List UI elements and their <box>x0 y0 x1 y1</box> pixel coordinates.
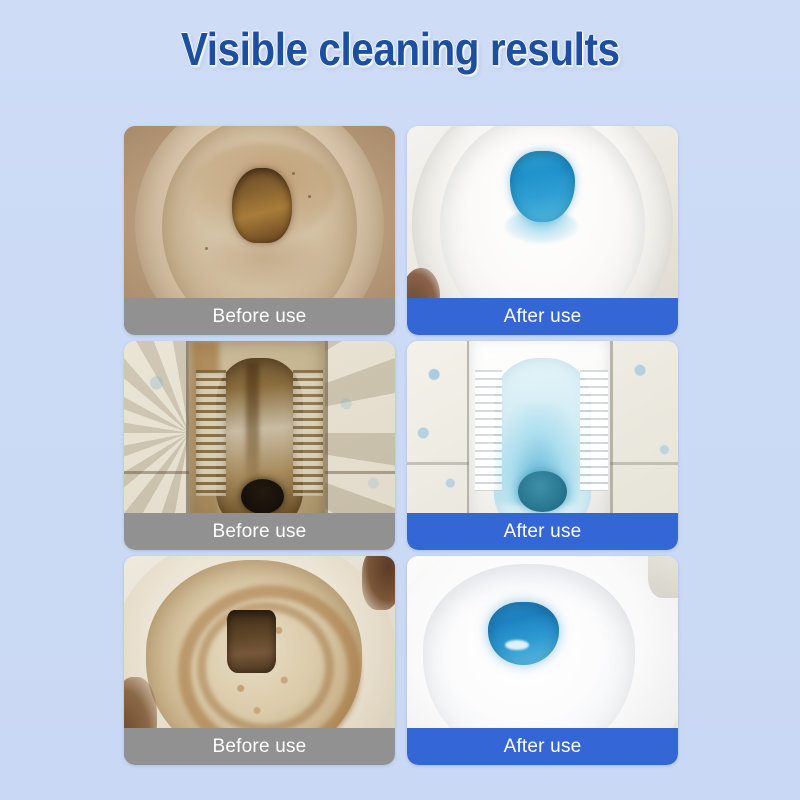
promo-poster: Visible cleaning results Before use <box>0 0 800 800</box>
page-title-wrap: Visible cleaning results <box>0 26 800 72</box>
foot-rest-ribs-right <box>293 370 323 495</box>
drain-hole <box>241 479 284 515</box>
floor-corner <box>362 556 395 610</box>
label-after-use: After use <box>407 728 678 765</box>
soiled-drain <box>227 610 276 673</box>
label-after-use: After use <box>407 298 678 335</box>
comparison-card-before-3[interactable]: Before use <box>124 556 395 765</box>
comparison-card-before-1[interactable]: Before use <box>124 126 395 335</box>
foot-rest-ribs-right <box>580 370 607 491</box>
grime-streak <box>246 362 260 492</box>
label-after-use: After use <box>407 513 678 550</box>
blue-cleaner-water <box>488 602 558 665</box>
water-highlight <box>505 640 529 650</box>
comparison-card-after-2[interactable]: After use <box>407 341 678 550</box>
blue-cleaner-pool <box>518 471 567 513</box>
label-before-use: Before use <box>124 728 395 765</box>
label-before-use: Before use <box>124 298 395 335</box>
page-title: Visible cleaning results <box>181 26 620 72</box>
toilet-lid-edge <box>648 556 678 598</box>
foot-rest-ribs-left <box>196 370 226 495</box>
before-after-grid: Before use After use <box>124 126 678 765</box>
grime-fleck <box>292 172 295 175</box>
comparison-card-after-1[interactable]: After use <box>407 126 678 335</box>
label-before-use: Before use <box>124 513 395 550</box>
blue-cleaner-water <box>510 151 575 222</box>
comparison-card-before-2[interactable]: Before use <box>124 341 395 550</box>
comparison-card-after-3[interactable]: After use <box>407 556 678 765</box>
soiled-drain <box>232 168 292 243</box>
